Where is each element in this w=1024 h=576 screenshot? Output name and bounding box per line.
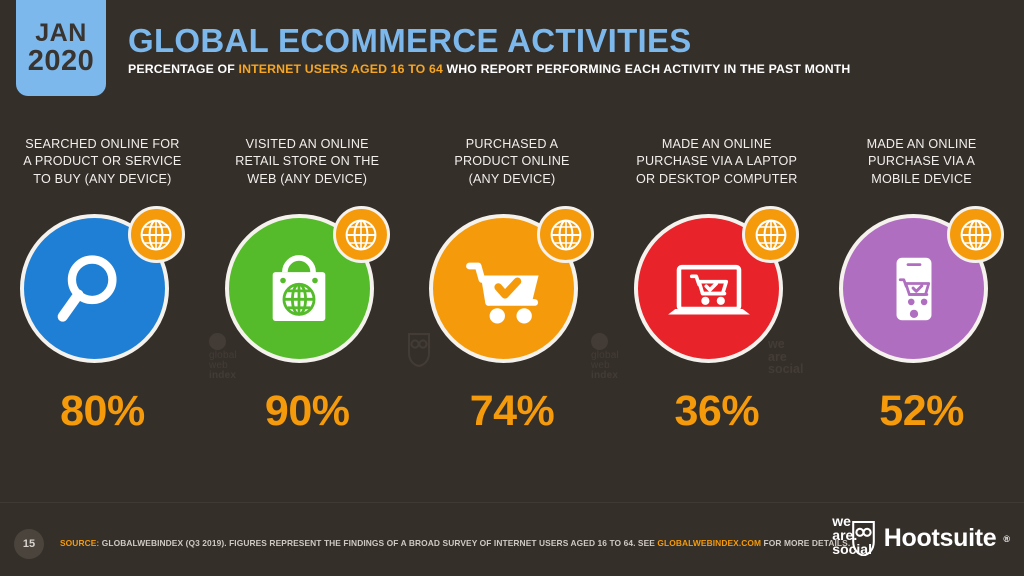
metric-label: MADE AN ONLINE PURCHASE VIA A MOBILE DEV… (833, 136, 1011, 198)
metric-value: 52% (879, 387, 964, 436)
metric-icon-group (839, 206, 1004, 371)
metric-label-line-1: VISITED AN ONLINE (218, 136, 396, 153)
source-link[interactable]: GLOBALWEBINDEX.COM (657, 538, 761, 548)
metric-label-line-2: PURCHASE VIA A LAPTOP (628, 153, 806, 170)
subtitle-part-2: WHO REPORT PERFORMING EACH ACTIVITY IN T… (443, 62, 851, 76)
metric-icon-group (634, 206, 799, 371)
globe-icon (956, 215, 996, 255)
subtitle-part-1: PERCENTAGE OF (128, 62, 239, 76)
metric-column-laptop-purchase: MADE AN ONLINE PURCHASE VIA A LAPTOP OR … (614, 136, 819, 436)
globe-icon (546, 215, 586, 255)
globe-badge (947, 206, 1004, 263)
metric-icon-group (225, 206, 390, 371)
metric-value: 36% (675, 387, 760, 436)
metric-column-purchased-product: PURCHASED A PRODUCT ONLINE (ANY DEVICE) (410, 136, 615, 436)
metric-column-visited-store: VISITED AN ONLINE RETAIL STORE ON THE WE… (205, 136, 410, 436)
metric-icon-group (429, 206, 594, 371)
globe-icon (341, 215, 381, 255)
infographic-slide: JAN 2020 GLOBAL ECOMMERCE ACTIVITIES PER… (0, 0, 1024, 576)
globe-badge (333, 206, 390, 263)
globe-icon (751, 215, 791, 255)
hootsuite-wordmark: Hootsuite (884, 524, 997, 553)
shopping-cart-check-icon (456, 241, 552, 337)
metric-value: 90% (265, 387, 350, 436)
page-title: GLOBAL ECOMMERCE ACTIVITIES (128, 22, 692, 60)
footer-divider (0, 502, 1024, 503)
metric-label-line-2: A PRODUCT OR SERVICE (13, 153, 191, 170)
registered-mark: ® (1003, 534, 1010, 544)
globe-badge (742, 206, 799, 263)
page-subtitle: PERCENTAGE OF INTERNET USERS AGED 16 TO … (128, 62, 850, 76)
metric-columns: SEARCHED ONLINE FOR A PRODUCT OR SERVICE… (0, 136, 1024, 436)
date-badge: JAN 2020 (16, 0, 106, 96)
metric-label-line-1: SEARCHED ONLINE FOR (13, 136, 191, 153)
page-number-badge: 15 (14, 529, 44, 559)
metric-label: SEARCHED ONLINE FOR A PRODUCT OR SERVICE… (13, 136, 191, 198)
source-text-1: GLOBALWEBINDEX (Q3 2019). FIGURES REPRES… (99, 538, 657, 548)
metric-column-searched-online: SEARCHED ONLINE FOR A PRODUCT OR SERVICE… (0, 136, 205, 436)
date-badge-month: JAN (35, 20, 87, 46)
subtitle-highlight: INTERNET USERS AGED 16 TO 64 (239, 62, 443, 76)
metric-label-line-1: MADE AN ONLINE (628, 136, 806, 153)
metric-label: PURCHASED A PRODUCT ONLINE (ANY DEVICE) (423, 136, 601, 198)
hootsuite-owl-icon (850, 521, 877, 556)
metric-column-mobile-purchase: MADE AN ONLINE PURCHASE VIA A MOBILE DEV… (819, 136, 1024, 436)
source-note: SOURCE: GLOBALWEBINDEX (Q3 2019). FIGURE… (60, 538, 850, 548)
metric-label-line-2: RETAIL STORE ON THE (218, 153, 396, 170)
metric-icon-group (20, 206, 185, 371)
metric-label-line-3: WEB (ANY DEVICE) (218, 171, 396, 188)
globe-badge (128, 206, 185, 263)
metric-label-line-2: PURCHASE VIA A (833, 153, 1011, 170)
mobile-cart-icon (868, 243, 960, 335)
shopping-bag-globe-icon (252, 242, 346, 336)
metric-label: VISITED AN ONLINE RETAIL STORE ON THE WE… (218, 136, 396, 198)
metric-value: 74% (470, 387, 555, 436)
magnifier-icon (48, 243, 140, 335)
metric-label-line-1: MADE AN ONLINE (833, 136, 1011, 153)
laptop-cart-icon (659, 239, 759, 339)
metric-label-line-1: PURCHASED A (423, 136, 601, 153)
metric-label: MADE AN ONLINE PURCHASE VIA A LAPTOP OR … (628, 136, 806, 198)
metric-label-line-3: (ANY DEVICE) (423, 171, 601, 188)
metric-label-line-3: TO BUY (ANY DEVICE) (13, 171, 191, 188)
source-label: SOURCE: (60, 538, 99, 548)
metric-label-line-3: OR DESKTOP COMPUTER (628, 171, 806, 188)
metric-label-line-3: MOBILE DEVICE (833, 171, 1011, 188)
globe-icon (136, 215, 176, 255)
metric-label-line-2: PRODUCT ONLINE (423, 153, 601, 170)
metric-value: 80% (60, 387, 145, 436)
hootsuite-logo: Hootsuite ® (850, 521, 1010, 556)
date-badge-year: 2020 (28, 46, 95, 76)
globe-badge (537, 206, 594, 263)
